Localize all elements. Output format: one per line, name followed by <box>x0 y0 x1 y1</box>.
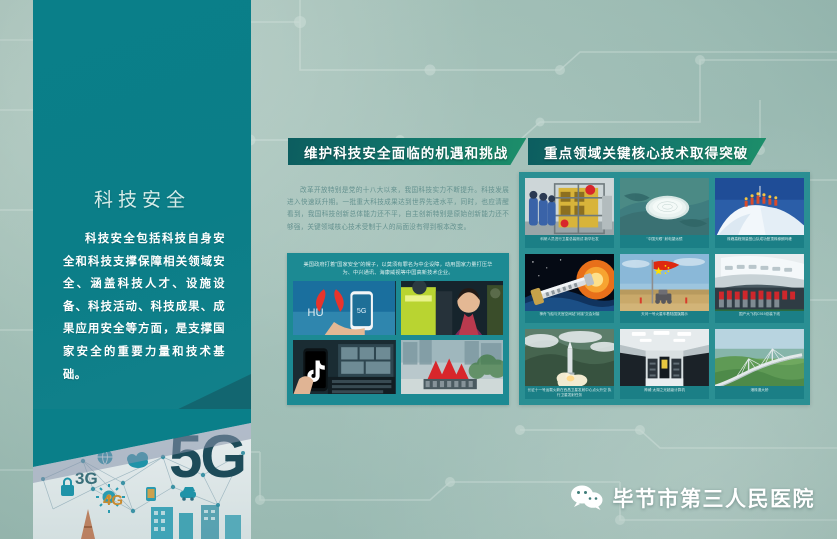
photo-mars-rover-flag: 天问一号火星车着陆国旗展示 <box>620 254 709 324</box>
photo-rocket-launch-image <box>525 329 614 386</box>
body-paragraph: 改革开放特别是党的十八大以来，我国科技实力不断提升。科技发展进入快速跃升期。一批… <box>287 185 509 234</box>
photo-card-grid: 5G HU <box>293 281 503 394</box>
panel-overlay-wedge <box>33 409 251 539</box>
wechat-icon <box>570 484 604 512</box>
banner-breakthroughs: 重点领域关键核心技术取得突破 <box>528 138 766 165</box>
photo-douyin-tiktok <box>293 340 396 394</box>
watermark: 毕节市第三人民医院 <box>570 483 816 513</box>
photo-supercomputer: 神威·太湖之光超级计算机 <box>620 329 709 399</box>
photo-hikvision <box>401 340 504 394</box>
photo-fast-telescope: "中国天眼" 射电望远镜 <box>620 178 709 248</box>
achievements-photo-grid: 科研人员进行卫星总装测试 新华社发 <box>519 172 810 405</box>
5g-network-illustration: 5G 3G 4G <box>33 409 251 539</box>
photo-supercomputer-image <box>620 329 709 386</box>
photo-caption: 天问一号火星车着陆国旗展示 <box>620 311 709 324</box>
photo-satellite-assembly-image <box>525 178 614 235</box>
svg-text:5G: 5G <box>357 307 367 315</box>
photo-everest-survey-image <box>715 178 804 235</box>
photo-hzm-bridge: 港珠澳大桥 <box>715 329 804 399</box>
photo-hzm-bridge-image <box>715 329 804 386</box>
photo-caption: 国产大飞机C919总装下线 <box>715 311 804 324</box>
banner-opportunities: 维护科技安全面临的机遇和挑战 <box>288 138 526 165</box>
photo-meng-wanzhou <box>401 281 504 335</box>
photo-satellite-assembly: 科研人员进行卫星总装测试 新华社发 <box>525 178 614 248</box>
photo-everest-survey: 珠峰高程测量登山队成功登顶珠穆朗玛峰 <box>715 178 804 248</box>
photo-c919-aircraft-image <box>715 254 804 311</box>
poster-root: 科技安全 科技安全包括科技自身安全和科技支撑保障相关领域安全、涵盖科技人才、设施… <box>0 0 837 539</box>
photo-caption: 神舟飞船与天宫空间站"对接"交会对接 <box>525 311 614 324</box>
photo-card-caption: 美国政府打着"国家安全"的幌子，以莫须有罪名为中企设障，动用国家力量打压华为、中… <box>293 259 503 281</box>
panel-description: 科技安全包括科技自身安全和科技支撑保障相关领域安全、涵盖科技人才、设施设备、科技… <box>63 228 225 386</box>
photo-fast-telescope-image <box>620 178 709 235</box>
us-sanctions-photo-card: 美国政府打着"国家安全"的幌子，以莫须有罪名为中企设障，动用国家力量打压华为、中… <box>287 253 509 405</box>
watermark-text: 毕节市第三人民医院 <box>613 483 816 513</box>
photo-space-docking: 神舟飞船与天宫空间站"对接"交会对接 <box>525 254 614 324</box>
photo-huawei-5g-phone: 5G HU <box>293 281 396 335</box>
page-title: 科技安全 <box>33 185 251 212</box>
photo-caption: "中国天眼" 射电望远镜 <box>620 235 709 248</box>
photo-caption: 神威·太湖之光超级计算机 <box>620 386 709 399</box>
photo-caption: 珠峰高程测量登山队成功登顶珠穆朗玛峰 <box>715 235 804 248</box>
photo-caption: 港珠澳大桥 <box>715 386 804 399</box>
photo-caption: 长征十一号运载火箭在西昌卫星发射中心点火升空 执行卫星发射任务 <box>525 386 614 399</box>
photo-c919-aircraft: 国产大飞机C919总装下线 <box>715 254 804 324</box>
photo-caption: 科研人员进行卫星总装测试 新华社发 <box>525 235 614 248</box>
svg-text:HU: HU <box>307 307 323 319</box>
photo-space-docking-image <box>525 254 614 311</box>
photo-rocket-launch: 长征十一号运载火箭在西昌卫星发射中心点火升空 执行卫星发射任务 <box>525 329 614 399</box>
photo-mars-rover-flag-image <box>620 254 709 311</box>
